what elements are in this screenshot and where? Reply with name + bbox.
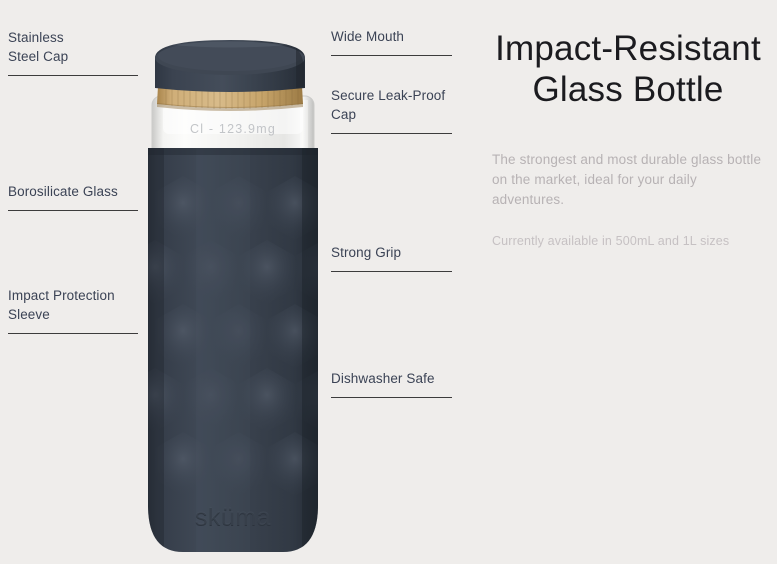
callout-borosilicate-glass: Borosilicate Glass	[8, 182, 138, 211]
callout-rule	[8, 75, 138, 76]
callout-impact-protection-sleeve: Impact Protection Sleeve	[8, 286, 138, 334]
callout-dishwasher-safe: Dishwasher Safe	[331, 369, 452, 398]
callout-rule	[331, 133, 452, 134]
hexagon-texture	[127, 148, 351, 552]
callout-rule	[331, 397, 452, 398]
availability-note: Currently available in 500mL and 1L size…	[492, 232, 764, 250]
brand-logo: sküma	[195, 504, 271, 532]
stainless-steel-cap	[155, 40, 305, 92]
bamboo-band	[157, 86, 303, 111]
callout-label: Stainless Steel Cap	[8, 28, 138, 66]
page-title: Impact-Resistant Glass Bottle	[492, 28, 764, 110]
callout-label: Borosilicate Glass	[8, 182, 138, 201]
brand-logo-highlight: sküma	[195, 503, 271, 531]
callout-label: Secure Leak-Proof Cap	[331, 86, 452, 124]
body-paragraph: The strongest and most durable glass bot…	[492, 150, 764, 210]
callout-rule	[8, 210, 138, 211]
bottle-glass-neck: Cl - 123.9mg	[152, 96, 314, 162]
callout-strong-grip: Strong Grip	[331, 243, 452, 272]
callout-label: Strong Grip	[331, 243, 452, 262]
callout-label: Dishwasher Safe	[331, 369, 452, 388]
impact-protection-sleeve: sküma sküma	[127, 148, 351, 552]
callout-secure-leak-proof-cap: Secure Leak-Proof Cap	[331, 86, 452, 134]
callout-label: Wide Mouth	[331, 27, 452, 46]
glass-etch-label: Cl - 123.9mg	[190, 122, 276, 136]
callout-stainless-steel-cap: Stainless Steel Cap	[8, 28, 138, 76]
callout-rule	[331, 55, 452, 56]
callout-label: Impact Protection Sleeve	[8, 286, 138, 324]
callout-rule	[8, 333, 138, 334]
marketing-copy: Impact-Resistant Glass Bottle The strong…	[492, 28, 764, 250]
callout-wide-mouth: Wide Mouth	[331, 27, 452, 56]
callout-rule	[331, 271, 452, 272]
